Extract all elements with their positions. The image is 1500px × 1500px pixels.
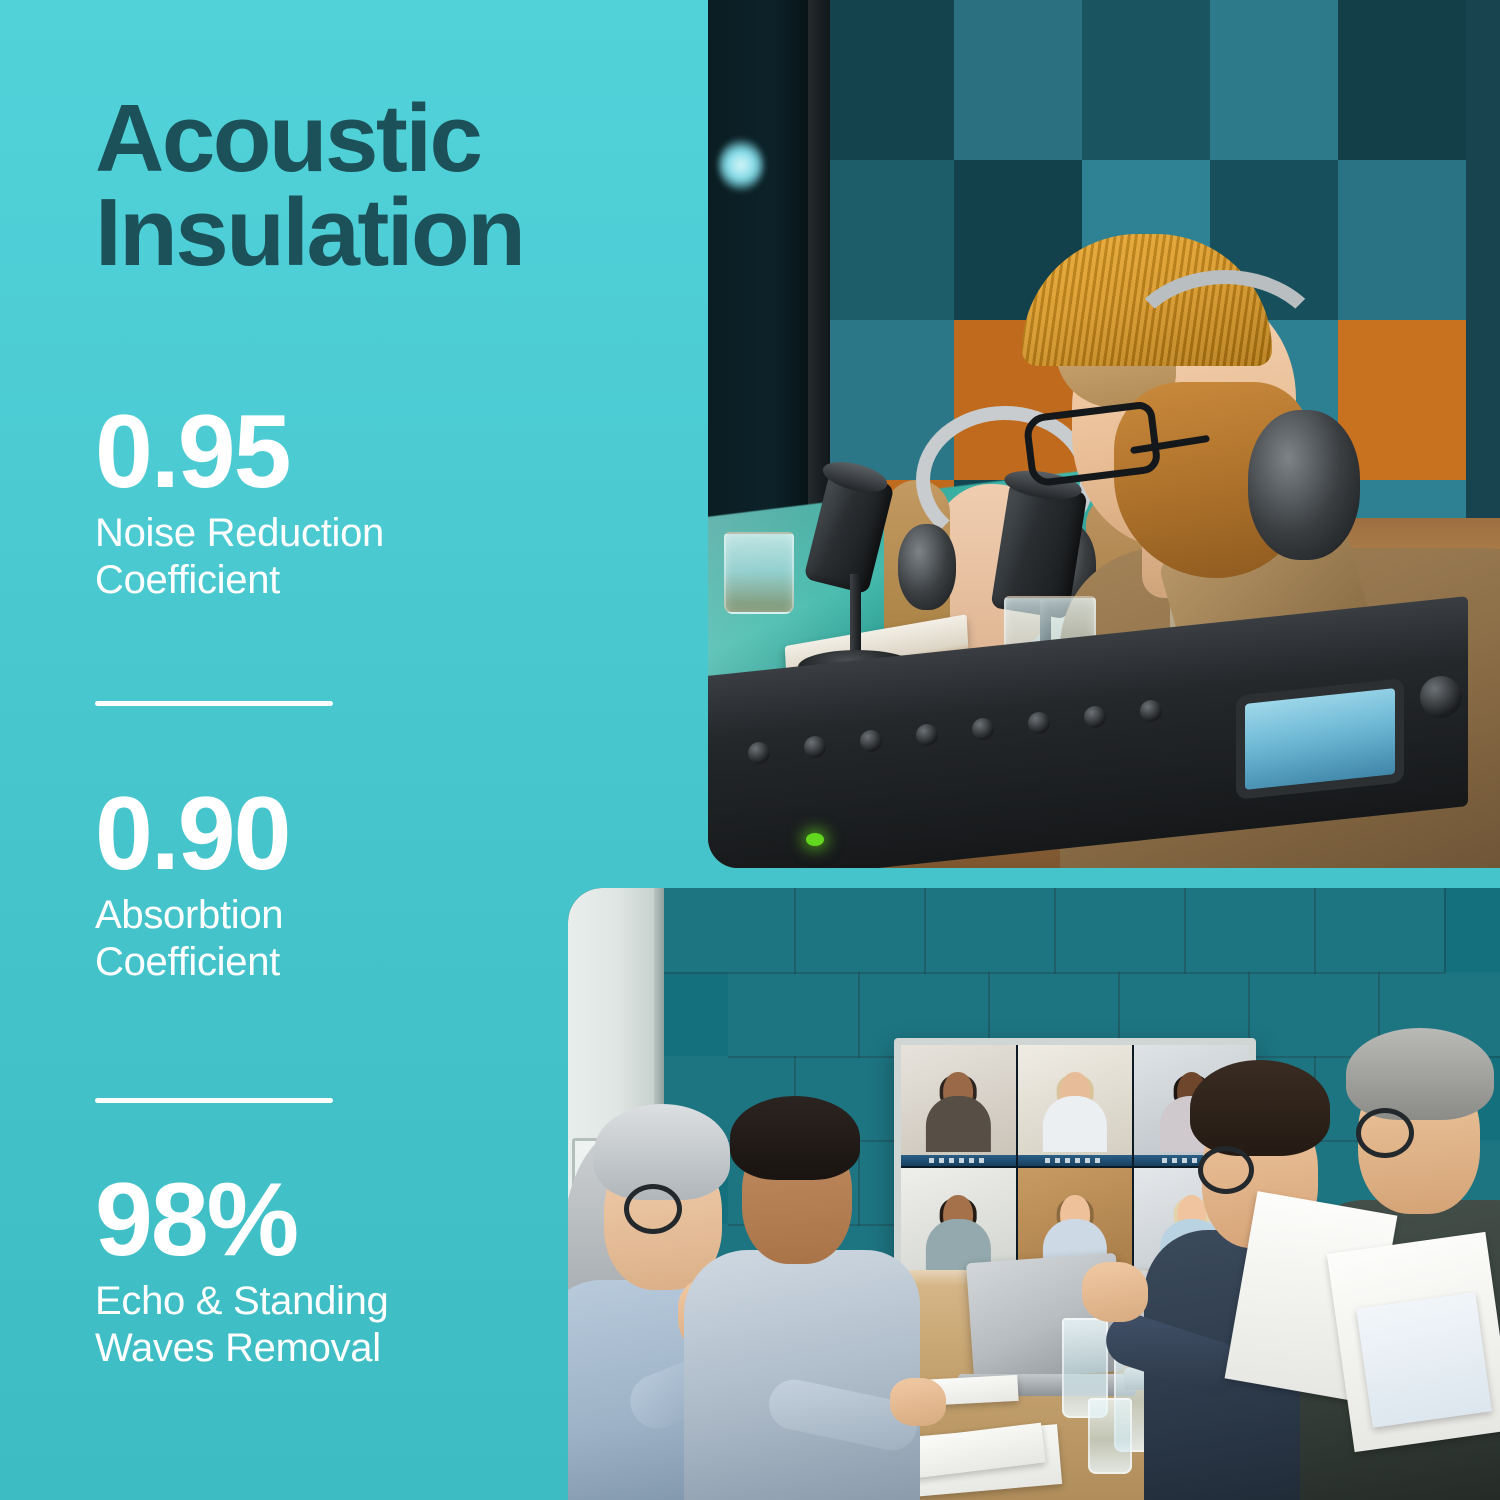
podcast-studio-photo <box>708 0 1500 868</box>
page-title-line-1: Acoustic <box>95 92 695 186</box>
infographic-canvas: Acoustic Insulation 0.95 Noise Reduction… <box>0 0 1500 1500</box>
hand <box>890 1378 946 1426</box>
headphones-earcup <box>898 524 956 610</box>
hair <box>730 1096 860 1180</box>
eyeglasses <box>1356 1108 1414 1158</box>
wall-tile <box>1184 888 1316 974</box>
page-title: Acoustic Insulation <box>95 92 695 280</box>
acoustic-panel <box>826 0 954 160</box>
console-knob <box>748 742 770 764</box>
stat-divider <box>95 1098 333 1103</box>
console-main-dial <box>1420 676 1462 718</box>
person-conference-man-left <box>684 1080 934 1500</box>
stat-divider <box>95 701 333 706</box>
water-glass <box>724 532 794 614</box>
page-title-line-2: Insulation <box>95 186 695 280</box>
held-chart-page <box>1356 1292 1492 1428</box>
console-knob <box>1028 712 1050 734</box>
stat-block-noise-reduction: 0.95 Noise Reduction Coefficient <box>95 400 655 604</box>
wall-tile <box>1054 888 1186 974</box>
acoustic-panel <box>826 160 954 320</box>
stat-value: 0.95 <box>95 400 655 504</box>
stat-label: Noise Reduction Coefficient <box>95 510 655 604</box>
stat-label-line-1: Noise Reduction <box>95 510 655 557</box>
video-call-toolbar <box>1018 1155 1133 1166</box>
console-knob <box>972 718 994 740</box>
wall-tile <box>924 888 1056 974</box>
console-knob <box>1140 700 1162 722</box>
stat-value: 0.90 <box>95 782 655 886</box>
participant-torso <box>926 1096 990 1152</box>
console-knob <box>804 736 826 758</box>
wall-tile <box>1314 888 1446 974</box>
console-knob <box>916 724 938 746</box>
console-display <box>1245 688 1395 790</box>
wall-tile <box>664 888 796 974</box>
studio-light-glow <box>718 138 764 192</box>
console-status-led <box>806 833 824 846</box>
hand-gesturing <box>1082 1262 1148 1322</box>
eyeglasses <box>624 1184 682 1234</box>
console-knob <box>860 730 882 752</box>
stat-label-line-2: Coefficient <box>95 557 655 604</box>
console-knob <box>1084 706 1106 728</box>
eyeglasses <box>1198 1146 1254 1194</box>
hair <box>1346 1028 1494 1120</box>
wall-tile <box>794 888 926 974</box>
headphones-band <box>1116 270 1334 448</box>
torso <box>684 1250 920 1500</box>
conference-room-photo <box>568 888 1500 1500</box>
participant-torso <box>1043 1096 1107 1152</box>
video-call-participant <box>1018 1045 1133 1166</box>
